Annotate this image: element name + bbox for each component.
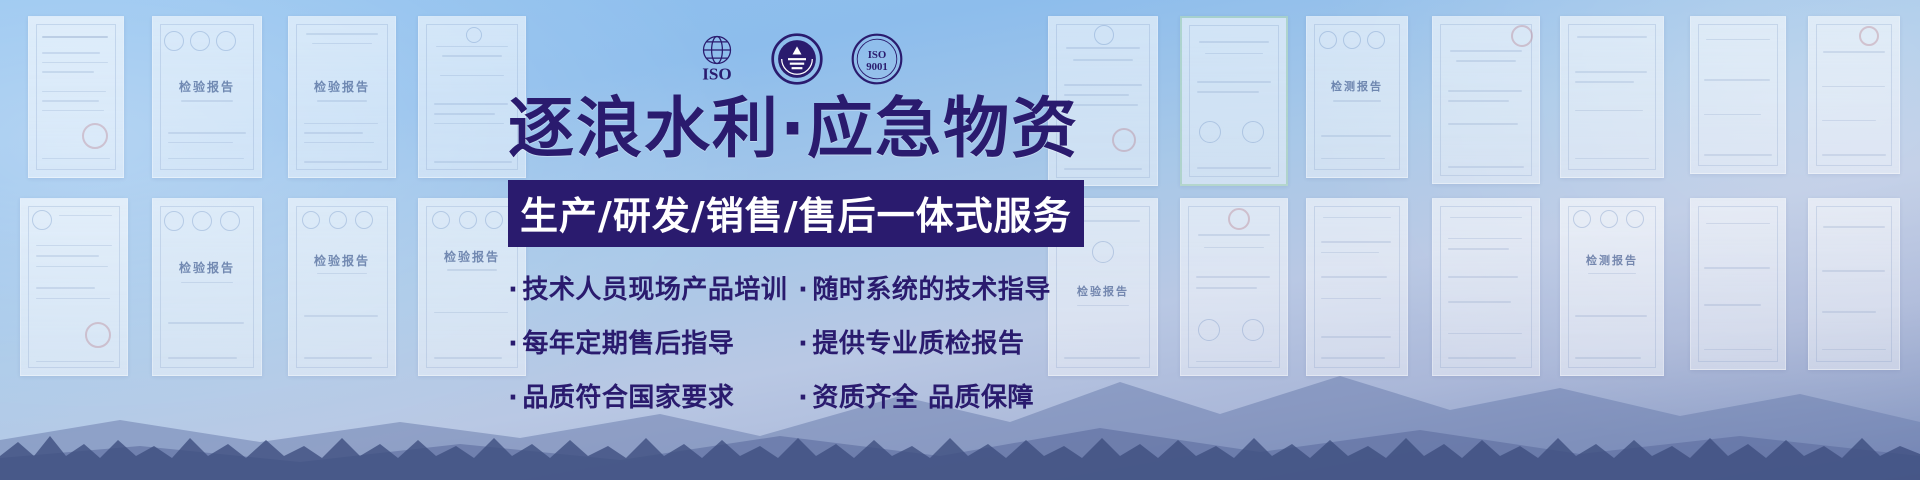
feature-row: · 品质符合国家要求 · 资质齐全 品质保障 [508,377,1048,414]
certificate-thumb: 检测报告 [1306,16,1408,178]
feature-label: 技术人员现场产品培训 [522,269,787,306]
promo-banner: 检验报告 检验报告 [0,0,1920,480]
certificate-thumb [1432,16,1540,184]
iso-globe-badge: ISO [690,32,744,86]
bullet-dot-icon: · [798,329,808,359]
feature-label: 每年定期售后指导 [522,323,734,360]
feature-label: 品质符合国家要求 [522,377,734,414]
feature-label: 资质齐全 品质保障 [812,377,1034,414]
feature-label: 提供专业质检报告 [812,323,1024,360]
certification-badges: ISO ISO 9001 [690,32,904,86]
feature-item: · 技术人员现场产品培训 [508,269,798,306]
bullet-dot-icon: · [508,383,518,413]
svg-text:ISO: ISO [868,49,887,61]
bullet-dot-icon: · [798,275,808,305]
feature-item: · 提供专业质检报告 [798,323,1048,360]
certificate-thumb: 检验报告 [288,16,396,178]
certificate-thumb: 检验报告 [152,16,262,178]
feature-item: · 随时系统的技术指导 [798,269,1048,306]
feature-row: · 技术人员现场产品培训 · 随时系统的技术指导 [508,269,1048,306]
bullet-dot-icon: · [508,275,518,305]
service-band: 生产/研发/销售/售后一体式服务 [508,180,1084,247]
certificate-thumb [1808,16,1900,174]
feature-row: · 每年定期售后指导 · 提供专业质检报告 [508,323,1048,360]
iso9001-badge: ISO 9001 [850,32,904,86]
certificate-thumb [1560,16,1664,178]
ccc-emblem-badge [770,32,824,86]
certificate-thumb [1180,16,1288,186]
bullet-dot-icon: · [508,329,518,359]
feature-list: · 技术人员现场产品培训 · 随时系统的技术指导 · 每年定期售后指导 · 提供… [508,269,1048,414]
headline-block: 逐浪水利·应急物资 生产/研发/销售/售后一体式服务 · 技术人员现场产品培训 … [508,96,1088,431]
svg-text:9001: 9001 [866,61,888,73]
certificate-thumb [1690,16,1786,174]
bullet-dot-icon: · [798,383,808,413]
feature-item: · 每年定期售后指导 [508,323,798,360]
main-title: 逐浪水利·应急物资 [508,96,1088,162]
feature-label: 随时系统的技术指导 [812,269,1051,306]
iso-badge-label: ISO [702,65,731,84]
feature-item: · 品质符合国家要求 [508,377,798,414]
feature-item: · 资质齐全 品质保障 [798,377,1048,414]
certificate-thumb [28,16,124,178]
